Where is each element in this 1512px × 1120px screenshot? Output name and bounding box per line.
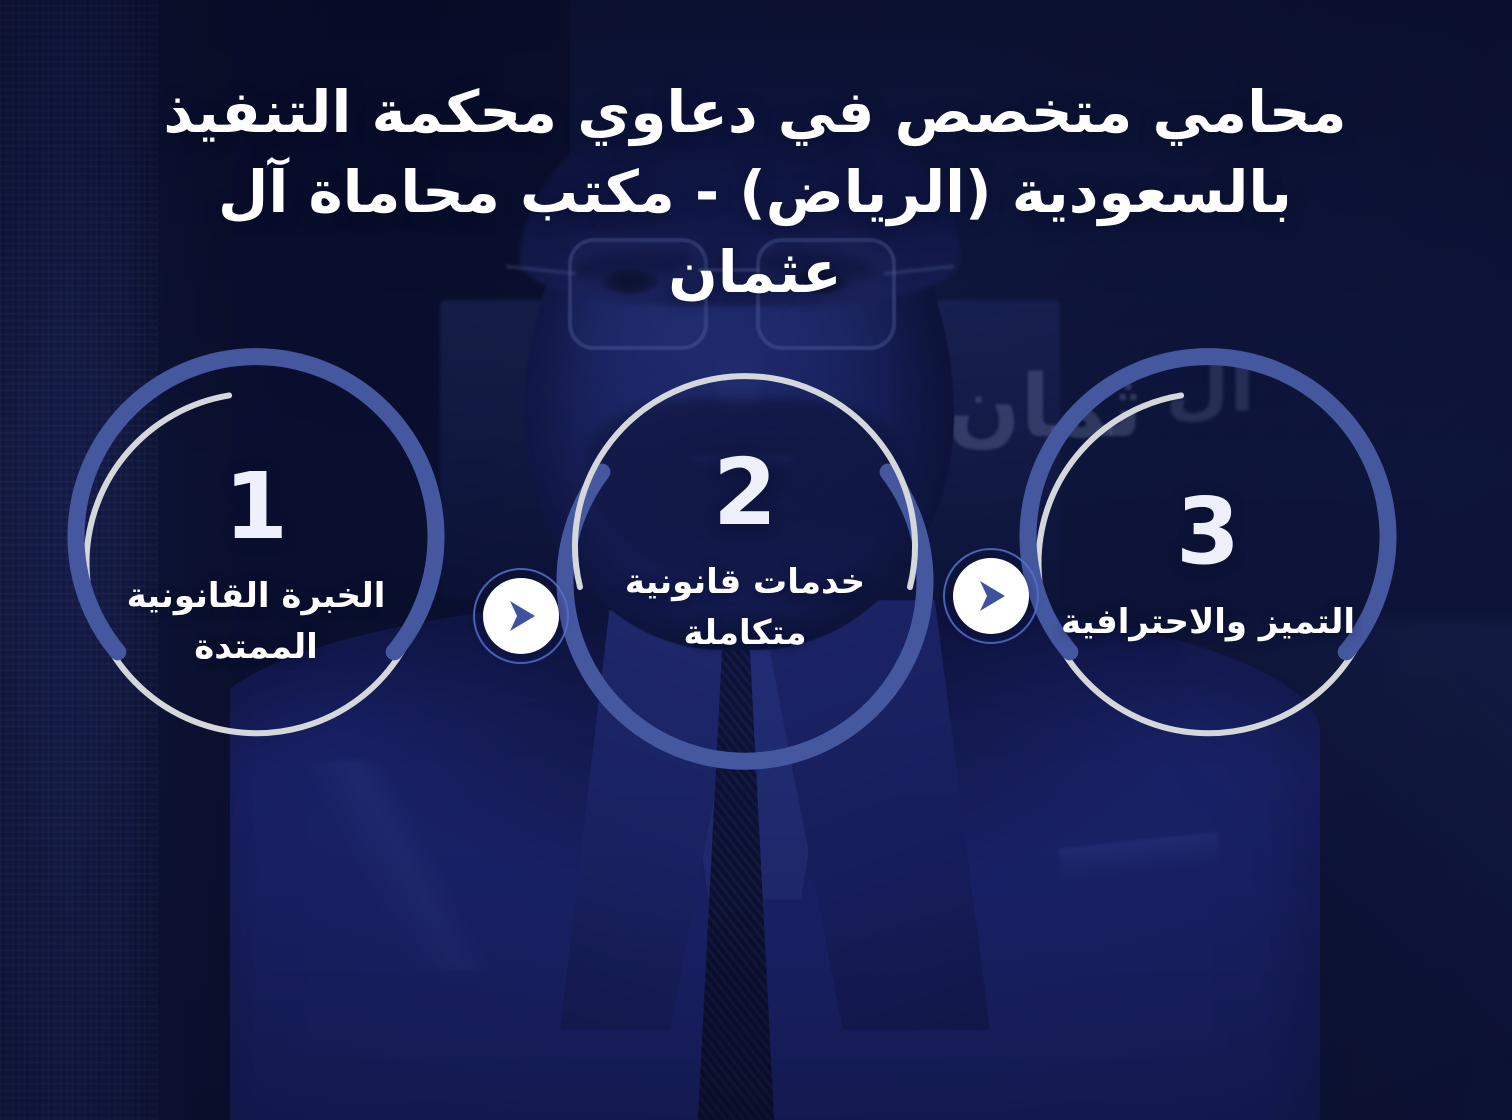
connector-2-icon-name: arrow-right-icon: [943, 548, 944, 549]
arrow-right-icon: [501, 596, 541, 636]
step-2-label: خدمات قانونية متكاملة: [595, 557, 895, 659]
step-circle-3[interactable]: 3 التميز والاحترافية: [1008, 366, 1408, 766]
step-1-number: 1: [224, 465, 288, 550]
step-1-label: الخبرة القانونية الممتدة: [106, 571, 406, 673]
connector-1-icon-name: arrow-right-icon: [473, 568, 474, 569]
page-title: محامي متخصص في دعاوي محكمة التنفيذ بالسع…: [130, 72, 1380, 312]
connector-badge-2-3[interactable]: arrow-right-icon: [943, 548, 1039, 644]
step-3-content: 3 التميز والاحترافية: [1008, 366, 1408, 766]
step-1-content: 1 الخبرة القانونية الممتدة: [56, 366, 456, 766]
step-circle-2[interactable]: 2 خدمات قانونية متكاملة: [545, 352, 945, 752]
step-3-label: التميز والاحترافية: [1061, 597, 1355, 648]
step-3-number: 3: [1176, 490, 1240, 575]
page-title-line-2: بالسعودية (الرياض) - مكتب محاماة آل عثما…: [130, 152, 1380, 312]
connector-disc: [483, 578, 559, 654]
arrow-right-icon: [971, 576, 1011, 616]
step-2-number: 2: [713, 451, 777, 536]
step-circle-1[interactable]: 1 الخبرة القانونية الممتدة: [56, 366, 456, 766]
page-title-line-1: محامي متخصص في دعاوي محكمة التنفيذ: [130, 72, 1380, 152]
step-2-content: 2 خدمات قانونية متكاملة: [545, 352, 945, 752]
connector-badge-1-2[interactable]: arrow-right-icon: [473, 568, 569, 664]
connector-disc: [953, 558, 1029, 634]
poster-canvas: ثمان ال محامي متخصص في دعاوي محكمة التنف…: [0, 0, 1512, 1120]
